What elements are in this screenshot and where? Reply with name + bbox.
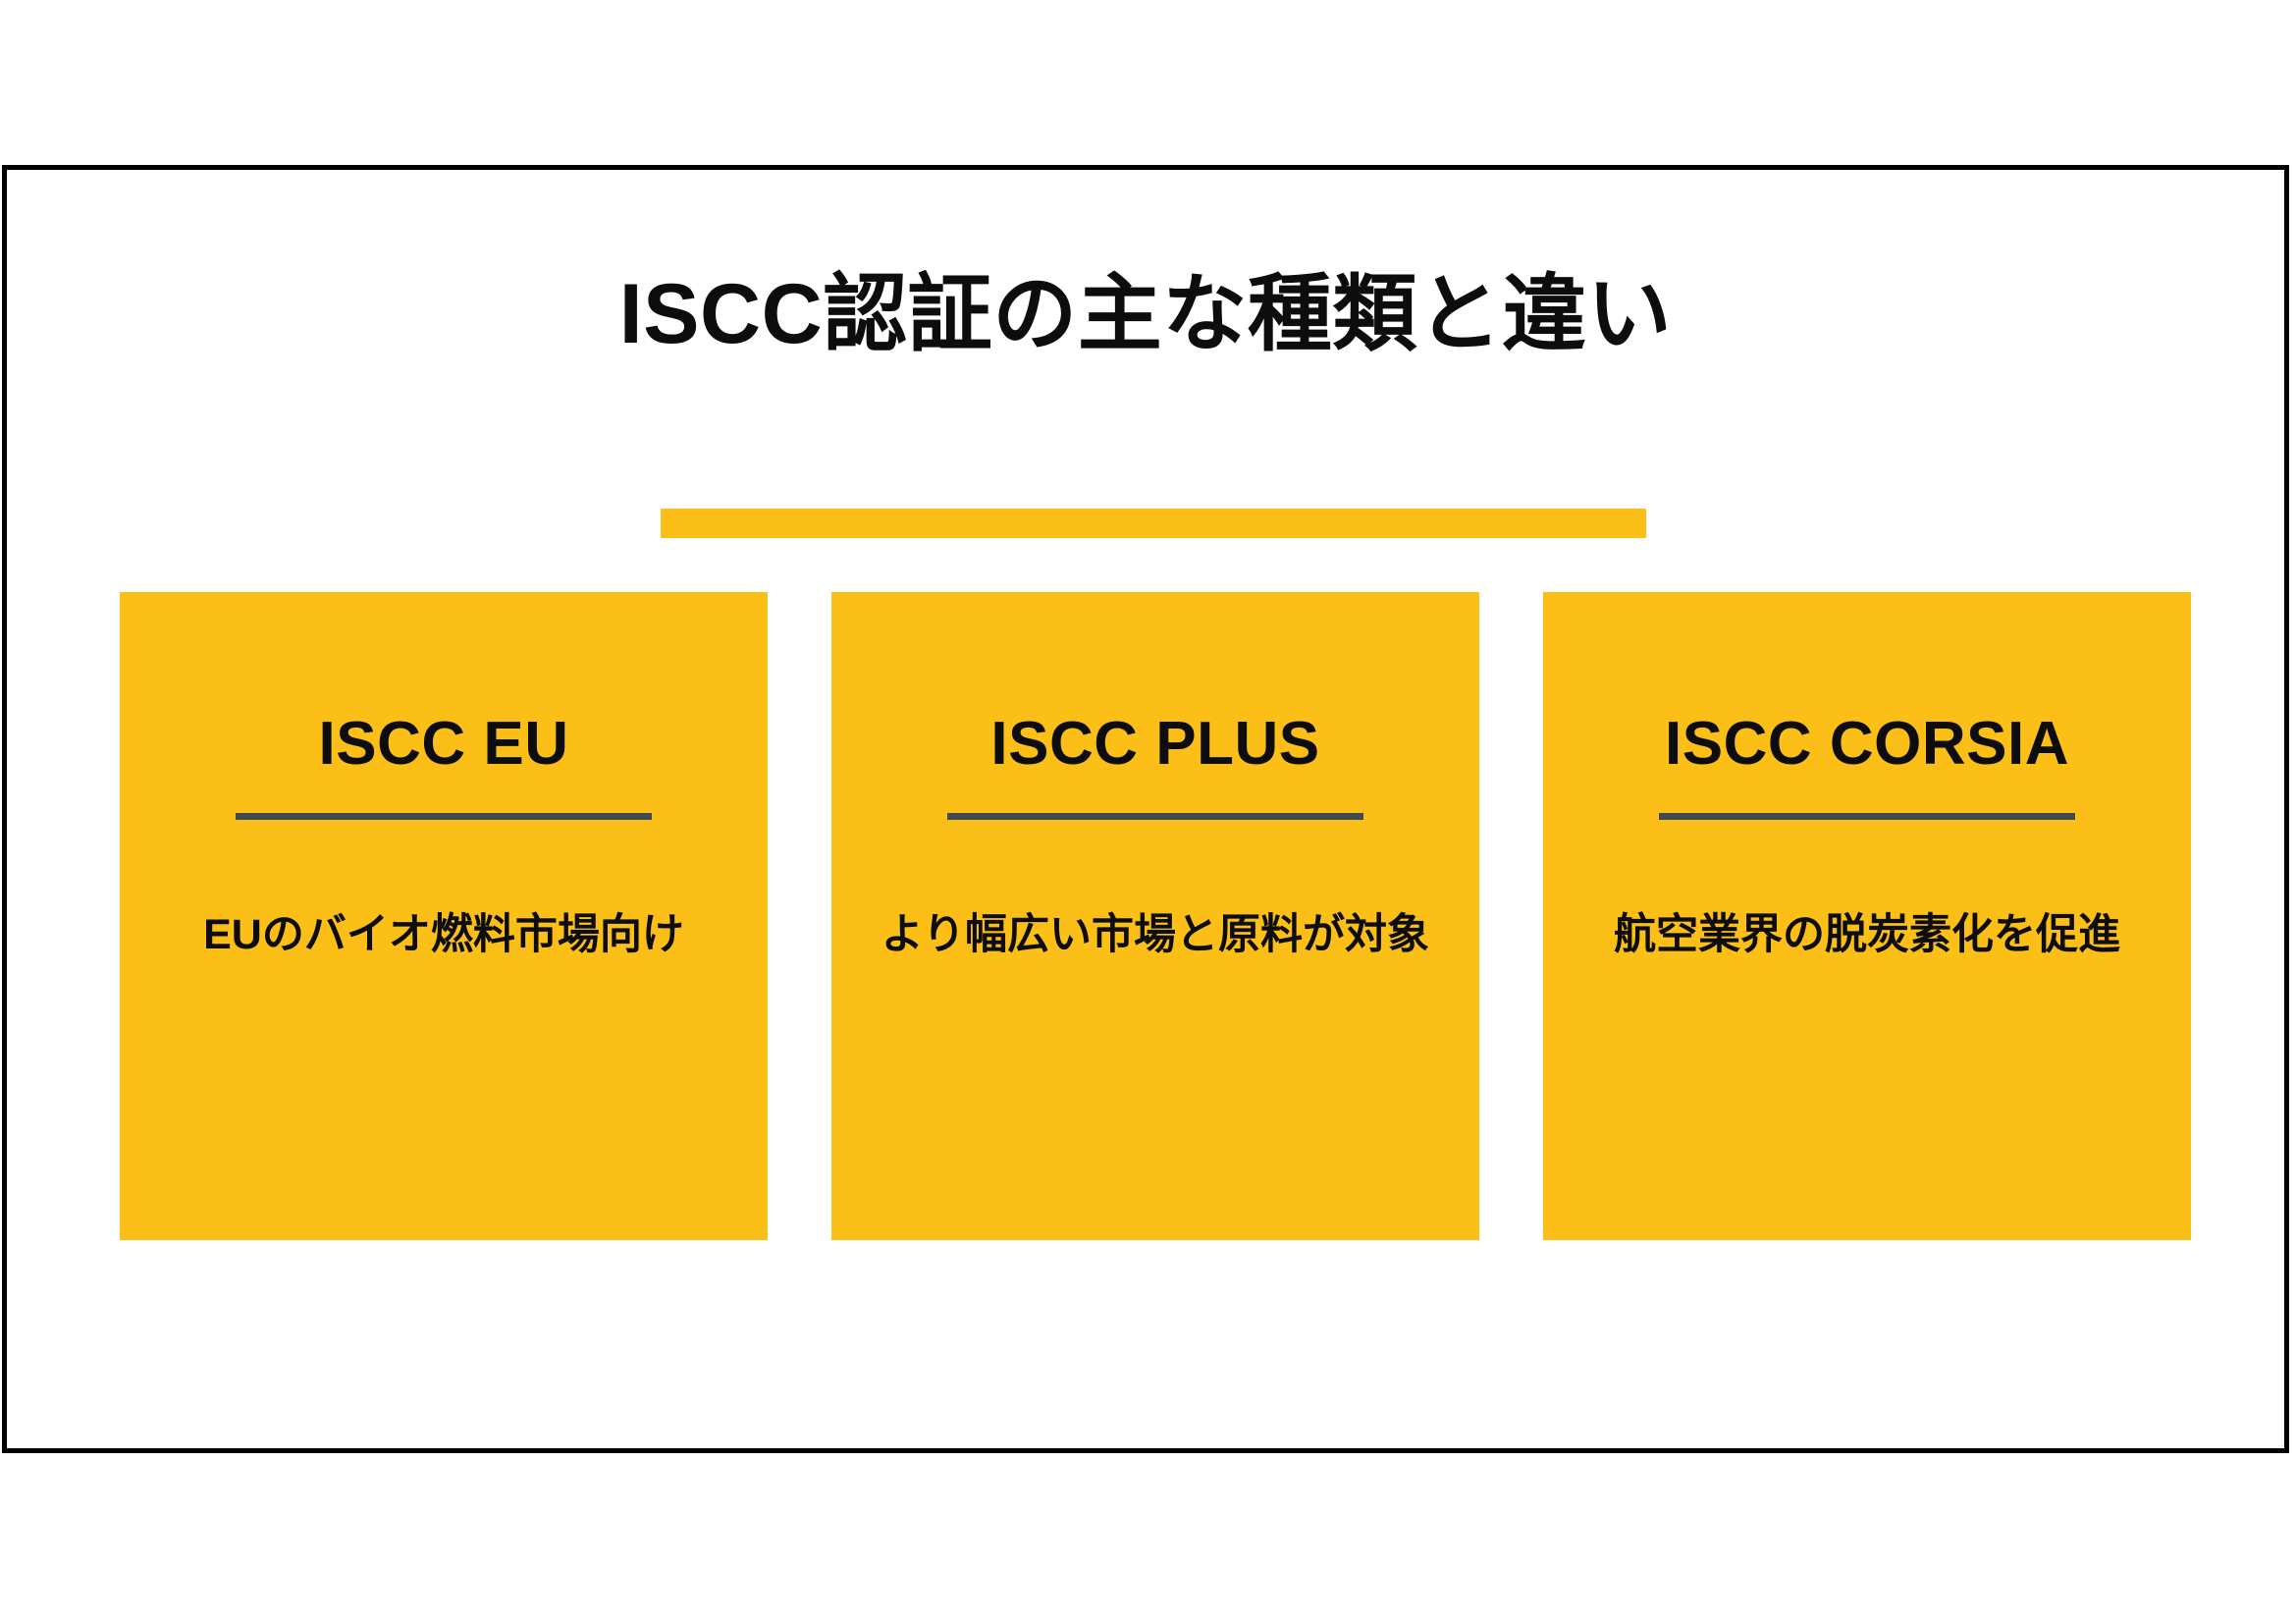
card-title: ISCC CORSIA	[1665, 712, 2069, 776]
certification-card-row: ISCC EU EUのバイオ燃料市場向け ISCC PLUS より幅広い市場と原…	[120, 592, 2191, 1240]
card-iscc-eu[interactable]: ISCC EU EUのバイオ燃料市場向け	[120, 592, 768, 1240]
page-title: ISCC認証の主な種類と違い	[7, 268, 2284, 361]
card-title: ISCC PLUS	[990, 712, 1319, 776]
card-body: 航空業界の脱炭素化を促進	[1614, 910, 2120, 961]
title-accent-bar	[661, 509, 1646, 538]
card-body: より幅広い市場と原料が対象	[881, 910, 1429, 961]
slide-frame: ISCC認証の主な種類と違い ISCC EU EUのバイオ燃料市場向け ISCC…	[2, 165, 2289, 1453]
card-iscc-corsia[interactable]: ISCC CORSIA 航空業界の脱炭素化を促進	[1543, 592, 2191, 1240]
card-body: EUのバイオ燃料市場向け	[203, 910, 684, 961]
slide-content: ISCC認証の主な種類と違い ISCC EU EUのバイオ燃料市場向け ISCC…	[7, 170, 2284, 1448]
card-iscc-plus[interactable]: ISCC PLUS より幅広い市場と原料が対象	[831, 592, 1479, 1240]
card-divider	[236, 813, 652, 820]
card-title: ISCC EU	[319, 712, 569, 776]
card-divider	[947, 813, 1363, 820]
card-divider	[1659, 813, 2075, 820]
